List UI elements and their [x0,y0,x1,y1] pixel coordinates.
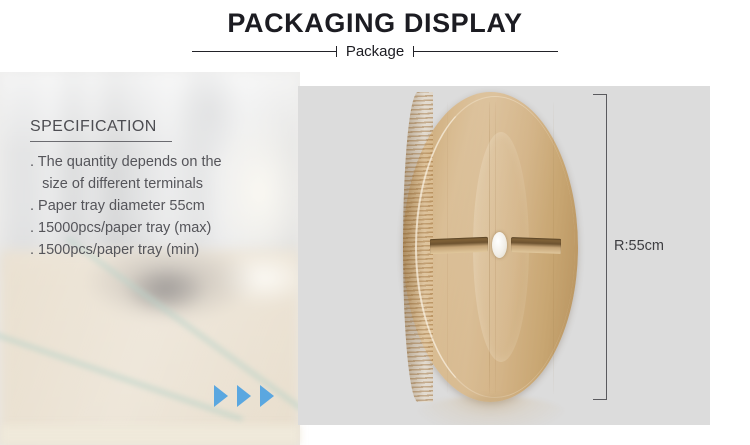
disc-slot [511,237,561,254]
disc-center-hole [492,232,507,258]
subtitle-divider-row: Package [0,44,750,59]
paper-tray-product [403,92,578,402]
list-item: . 15000pcs/paper tray (max) [30,217,295,239]
subtitle-label: Package [337,44,413,59]
arrow-decoration-group [214,385,274,407]
divider-line-left [192,46,337,57]
product-image-panel: R:55cm [298,86,710,425]
list-item: . The quantity depends on the [30,151,295,173]
triangle-right-icon [260,385,274,407]
dimension-label: R:55cm [614,238,664,254]
divider-line-right [413,46,558,57]
dimension-bracket [593,94,607,400]
bracket-bottom-tick [593,399,607,400]
bracket-vertical-line [606,94,607,400]
specification-block: SPECIFICATION . The quantity depends on … [30,118,295,261]
page-header: PACKAGING DISPLAY Package [0,0,750,72]
bracket-top-tick [593,94,607,95]
triangle-right-icon [214,385,228,407]
disc-slot [430,237,488,254]
triangle-right-icon [237,385,251,407]
list-item: size of different terminals [30,173,295,195]
specification-list: . The quantity depends on the size of di… [30,151,295,261]
list-item: . 1500pcs/paper tray (min) [30,239,295,261]
specification-underline [30,141,172,142]
specification-heading: SPECIFICATION [30,118,295,136]
packaging-display-page: SPECIFICATION . The quantity depends on … [0,0,750,445]
disc-reflection [416,396,566,425]
page-title: PACKAGING DISPLAY [0,8,750,39]
photo-bottom-edge [0,425,300,445]
list-item: . Paper tray diameter 55cm [30,195,295,217]
